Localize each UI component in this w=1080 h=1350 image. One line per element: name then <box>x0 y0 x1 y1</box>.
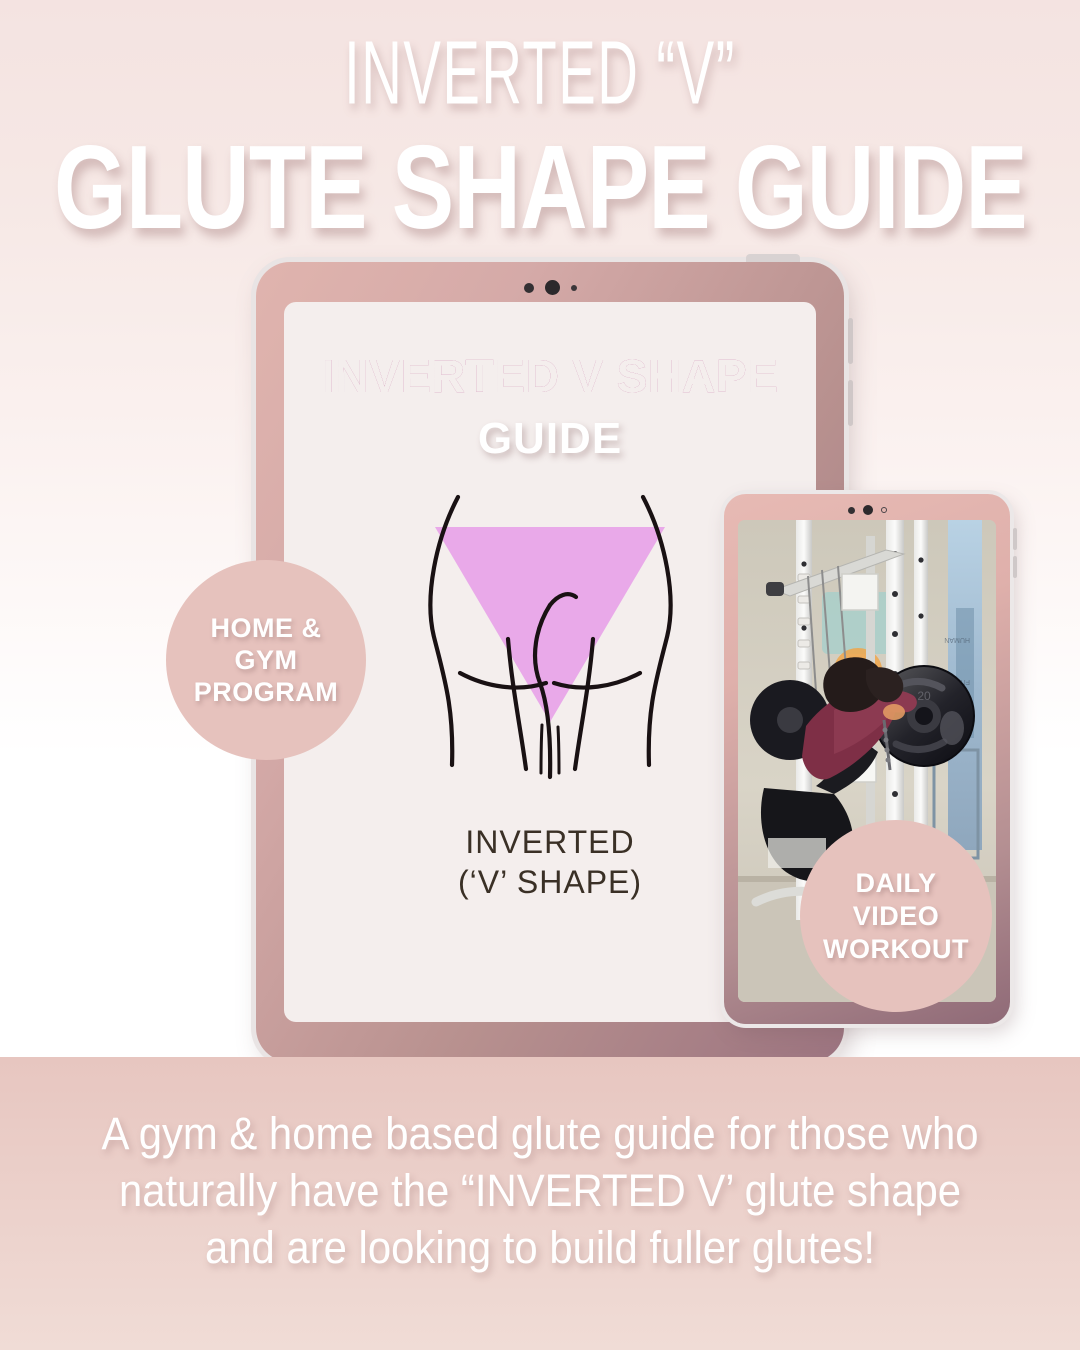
sensor-dot-small-icon <box>848 507 855 514</box>
volume-up-button-icon <box>848 318 853 364</box>
footer-description: A gym & home based glute guide for those… <box>94 1105 987 1276</box>
volume-down-button-icon <box>848 380 853 426</box>
badge-daily-video-workout: DAILY VIDEO WORKOUT <box>800 820 992 1012</box>
badge-home-gym-program: HOME & GYM PROGRAM <box>166 560 366 760</box>
cover-subtitle: GUIDE <box>284 414 816 464</box>
camera-dots-small <box>724 505 1010 515</box>
cover-title-text: INVERTED V SHAPE <box>322 350 778 402</box>
badge-home-line-3: PROGRAM <box>194 676 339 708</box>
svg-text:20: 20 <box>917 689 931 703</box>
badge-home-line-1: HOME & <box>194 612 339 644</box>
camera-dots-large <box>256 280 844 295</box>
camera-lens-icon <box>545 280 560 295</box>
badge-daily-line-2: VIDEO <box>823 900 969 933</box>
poster-canvas: INVERTED “V” GLUTE SHAPE GUIDE INVERTED … <box>0 0 1080 1350</box>
poster-headline: INVERTED “V” GLUTE SHAPE GUIDE <box>0 34 1080 240</box>
headline-line-1: INVERTED “V” <box>140 27 939 121</box>
headline-line-2: GLUTE SHAPE GUIDE <box>54 129 1026 248</box>
badge-daily-line-3: WORKOUT <box>823 933 969 966</box>
power-button-icon <box>746 254 800 262</box>
light-sensor-small-icon <box>881 507 887 513</box>
glute-shape-illustration-icon <box>400 487 700 817</box>
camera-lens-small-icon <box>863 505 873 515</box>
volume-down-button-small-icon <box>1013 556 1017 578</box>
footer-band: A gym & home based glute guide for those… <box>0 1057 1080 1350</box>
light-sensor-icon <box>571 285 577 291</box>
volume-up-button-small-icon <box>1013 528 1017 550</box>
sensor-dot-icon <box>524 283 534 293</box>
cover-title: INVERTED V SHAPE <box>284 350 816 402</box>
svg-text:HUMAN: HUMAN <box>944 636 970 643</box>
badge-home-line-2: GYM <box>194 644 339 676</box>
badge-daily-line-1: DAILY <box>823 867 969 900</box>
